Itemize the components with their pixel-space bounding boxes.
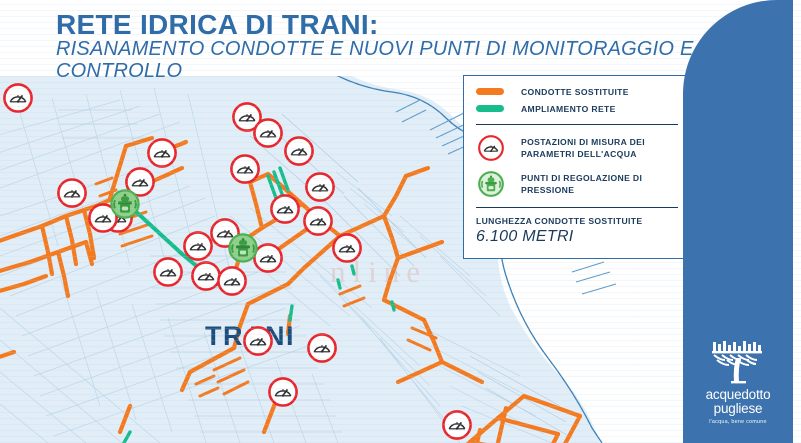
aqp-tree-icon: [707, 340, 769, 384]
map-marker-valve[interactable]: [226, 231, 260, 265]
legend-item-postazioni-misura: POSTAZIONI DI MISURA DEI PARAMETRI DELL'…: [464, 133, 690, 163]
map-marker-gauge[interactable]: [266, 375, 300, 409]
map-marker-gauge[interactable]: [282, 134, 316, 168]
map-marker-gauge[interactable]: [1, 81, 35, 115]
legend-item-ampliamento-rete: AMPLIAMENTO RETE: [464, 103, 690, 115]
green-bar-icon: [476, 103, 506, 112]
legend-label-punti-regolazione: PUNTI DI REGOLAZIONE DI PRESSIONE: [506, 169, 678, 196]
map-marker-gauge[interactable]: [440, 408, 474, 442]
map-marker-gauge[interactable]: [251, 116, 285, 150]
legend-total-label: LUNGHEZZA CONDOTTE SOSTITUITE: [464, 216, 690, 226]
map-marker-gauge[interactable]: [215, 264, 249, 298]
orange-bar-icon: [476, 86, 506, 95]
map-marker-gauge[interactable]: [268, 192, 302, 226]
map-marker-gauge[interactable]: [330, 231, 364, 265]
legend-item-punti-regolazione: PUNTI DI REGOLAZIONE DI PRESSIONE: [464, 169, 690, 199]
legend-item-condotte-sostituite: CONDOTTE SOSTITUITE: [464, 86, 690, 98]
map-marker-gauge[interactable]: [228, 152, 262, 186]
legend-divider-2: [476, 207, 678, 208]
legend-label-ampliamento-rete: AMPLIAMENTO RETE: [506, 103, 616, 115]
map-marker-gauge[interactable]: [151, 255, 185, 289]
pressure-valve-icon: [476, 169, 506, 199]
map-marker-gauge[interactable]: [181, 229, 215, 263]
brand-name-line2: pugliese: [683, 402, 793, 416]
brand-tagline: l'acqua, bene comune: [683, 419, 793, 425]
legend-label-postazioni-misura: POSTAZIONI DI MISURA DEI PARAMETRI DELL'…: [506, 133, 678, 160]
map-marker-gauge[interactable]: [241, 324, 275, 358]
gauge-marker-icon: [476, 133, 506, 163]
legend-panel: CONDOTTE SOSTITUITE AMPLIAMENTO RETE: [463, 75, 691, 259]
map-marker-valve[interactable]: [108, 187, 142, 221]
map-marker-gauge[interactable]: [55, 176, 89, 210]
legend-total-value: 6.100 METRI: [464, 226, 690, 246]
brand-logo: acquedotto pugliese l'acqua, bene comune: [683, 340, 793, 425]
brand-panel: acquedotto pugliese l'acqua, bene comune: [683, 0, 793, 443]
header: RETE IDRICA DI TRANI: RISANAMENTO CONDOT…: [0, 0, 801, 80]
legend-divider-1: [476, 124, 678, 125]
page-title: RETE IDRICA DI TRANI:: [56, 9, 379, 41]
infographic-poster: nline TRANI: [0, 0, 801, 443]
brand-name-line1: acquedotto: [683, 388, 793, 402]
map-marker-gauge[interactable]: [303, 170, 337, 204]
map-marker-gauge[interactable]: [305, 331, 339, 365]
legend-label-condotte-sostituite: CONDOTTE SOSTITUITE: [506, 86, 629, 98]
